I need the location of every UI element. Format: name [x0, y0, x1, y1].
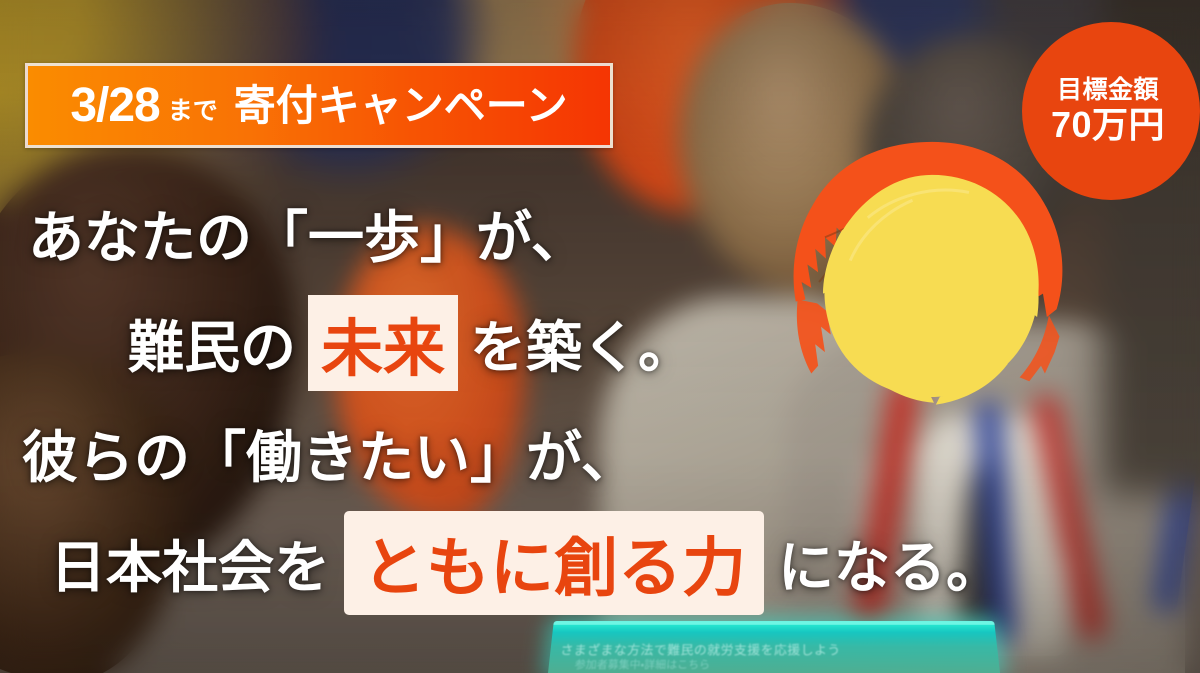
headline-line-3-text: 彼らの「働きたい」が、: [22, 413, 637, 494]
campaign-title: 寄付キャンペーン: [234, 85, 568, 127]
headline-line-4: 日本社会を ともに創る力 になる。: [0, 508, 1030, 618]
headline-line-1: あなたの「一歩」が、: [0, 178, 1030, 288]
headline-line-3: 彼らの「働きたい」が、: [0, 398, 1030, 508]
goal-amount-badge: 目標金額 70万円: [1022, 22, 1200, 200]
headline-line-1-text: あなたの「一歩」が、: [28, 193, 587, 274]
campaign-end-date: 3/28: [70, 82, 159, 130]
headline-line-4-after: になる。: [778, 523, 1002, 604]
campaign-until-label: まで: [168, 99, 218, 124]
headline-line-2: 難民の 未来 を築く。: [0, 288, 1030, 398]
headline-block: あなたの「一歩」が、 難民の 未来 を築く。 彼らの「働きたい」が、 日本社会を…: [0, 178, 1030, 618]
headline-line-2-before: 難民の: [128, 303, 296, 384]
laptop-screen: さまざまな方法で難民の就労支援を応援しよう 参加者募集中・詳細はこちら: [548, 621, 1000, 673]
headline-line-4-before: 日本社会を: [50, 523, 330, 604]
donation-campaign-poster: Guest Guest さまざまな方法で難民の就労支援を応援しよう 参加者募集中…: [0, 0, 1200, 673]
goal-badge-label: 目標金額: [1057, 78, 1159, 103]
campaign-banner: 3/28 まで 寄付キャンペーン: [25, 63, 613, 148]
goal-badge-amount: 70万円: [1051, 105, 1165, 145]
headline-emphasis-future: 未来: [308, 295, 458, 391]
headline-emphasis-power: ともに創る力: [344, 511, 764, 615]
headline-line-2-after: を築く。: [470, 303, 694, 384]
laptop-screen-line-2: 参加者募集中・詳細はこちら: [574, 656, 710, 672]
